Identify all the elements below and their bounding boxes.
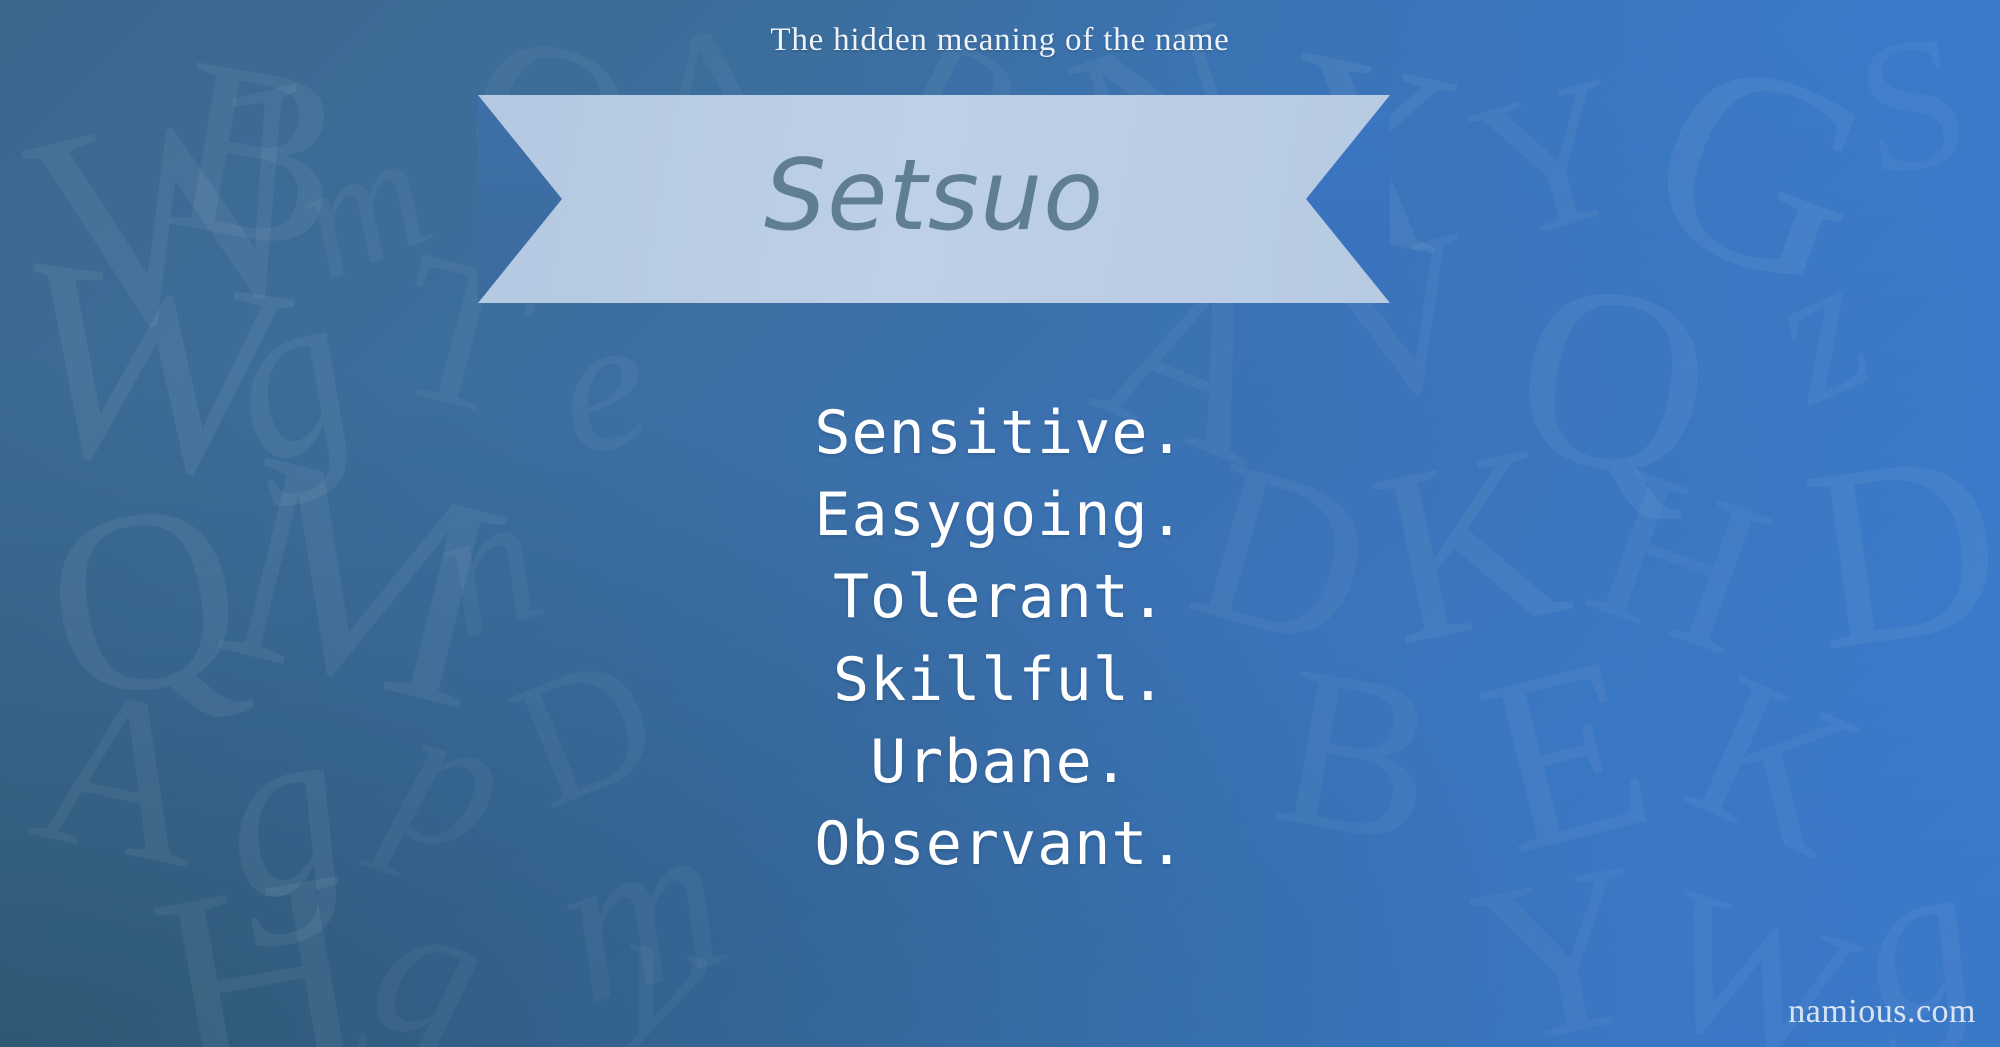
trait-list: Sensitive.Easygoing.Tolerant.Skillful.Ur… <box>0 392 2000 885</box>
name-meaning-card: WBmQARNXYGSWgTeAVQzQMnDKHDAgpDBEKHgmyYWg… <box>0 0 2000 1047</box>
site-watermark: namious.com <box>1788 993 1976 1031</box>
trait-line: Skillful. <box>0 639 2000 721</box>
watermark-letter: y <box>601 873 723 1047</box>
watermark-letter: g <box>354 860 505 1047</box>
trait-line: Sensitive. <box>0 392 2000 474</box>
page-caption: The hidden meaning of the name <box>0 22 2000 59</box>
watermark-letter: m <box>273 103 451 307</box>
trait-line: Easygoing. <box>0 474 2000 556</box>
watermark-letter: Y <box>1455 44 1649 276</box>
name-title: Setsuo <box>478 95 1390 303</box>
trait-line: Tolerant. <box>0 556 2000 638</box>
watermark-letter: W <box>8 30 355 390</box>
trait-line: Observant. <box>0 803 2000 885</box>
trait-line: Urbane. <box>0 721 2000 803</box>
